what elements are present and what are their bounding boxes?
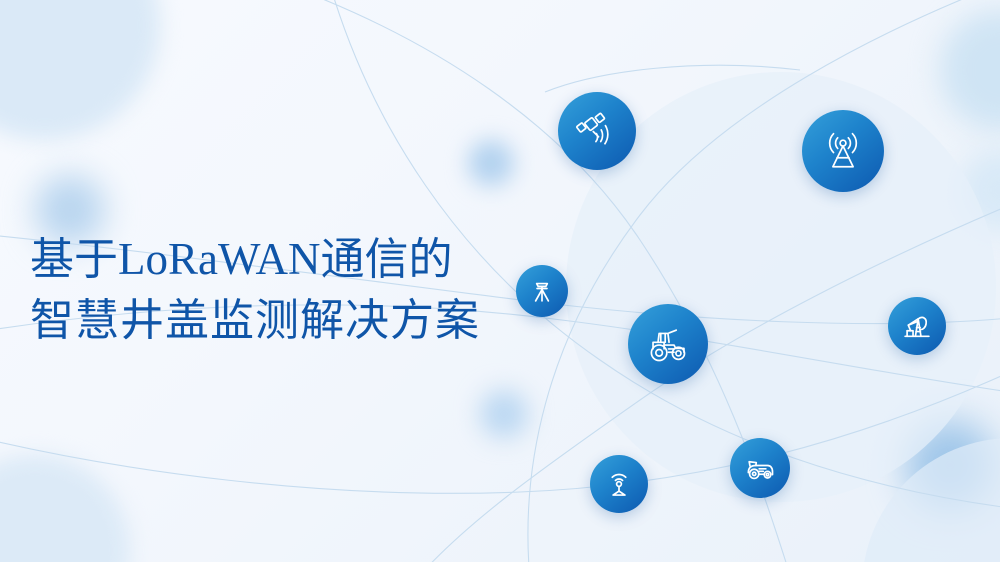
title-prefix: 基于 — [30, 235, 118, 284]
slide-canvas: 基于LoRaWAN通信的 智慧井盖监测解决方案 — [0, 0, 1000, 562]
satellite-icon — [572, 106, 623, 157]
title-line-1: 基于LoRaWAN通信的 — [30, 228, 590, 291]
icon-node-satellite[interactable] — [558, 92, 636, 170]
title-line-2: 智慧井盖监测解决方案 — [30, 291, 590, 352]
oil-pumpjack-icon — [898, 307, 936, 345]
blob-lower-left — [0, 455, 130, 562]
blob-top-right — [940, 10, 1000, 130]
icon-node-mower[interactable] — [730, 438, 790, 498]
signal-sensor-icon — [600, 465, 638, 503]
blob-top-left — [0, 0, 160, 140]
robot-mower-icon — [740, 448, 780, 488]
radio-tower-icon — [816, 124, 870, 178]
icon-node-tower[interactable] — [802, 110, 884, 192]
icon-node-sensor[interactable] — [590, 455, 648, 513]
blob-bottom-right — [905, 420, 995, 510]
blob-text-right — [468, 140, 514, 186]
tractor-icon — [642, 318, 695, 371]
blob-far-right — [960, 150, 1000, 230]
icon-node-tractor[interactable] — [628, 304, 708, 384]
title-block: 基于LoRaWAN通信的 智慧井盖监测解决方案 — [30, 228, 590, 351]
icon-node-pumpjack[interactable] — [888, 297, 946, 355]
title-latin: LoRaWAN — [118, 234, 320, 284]
blob-below-text — [480, 390, 528, 438]
corner-sphere — [862, 438, 1000, 562]
title-suffix: 通信的 — [320, 235, 452, 284]
